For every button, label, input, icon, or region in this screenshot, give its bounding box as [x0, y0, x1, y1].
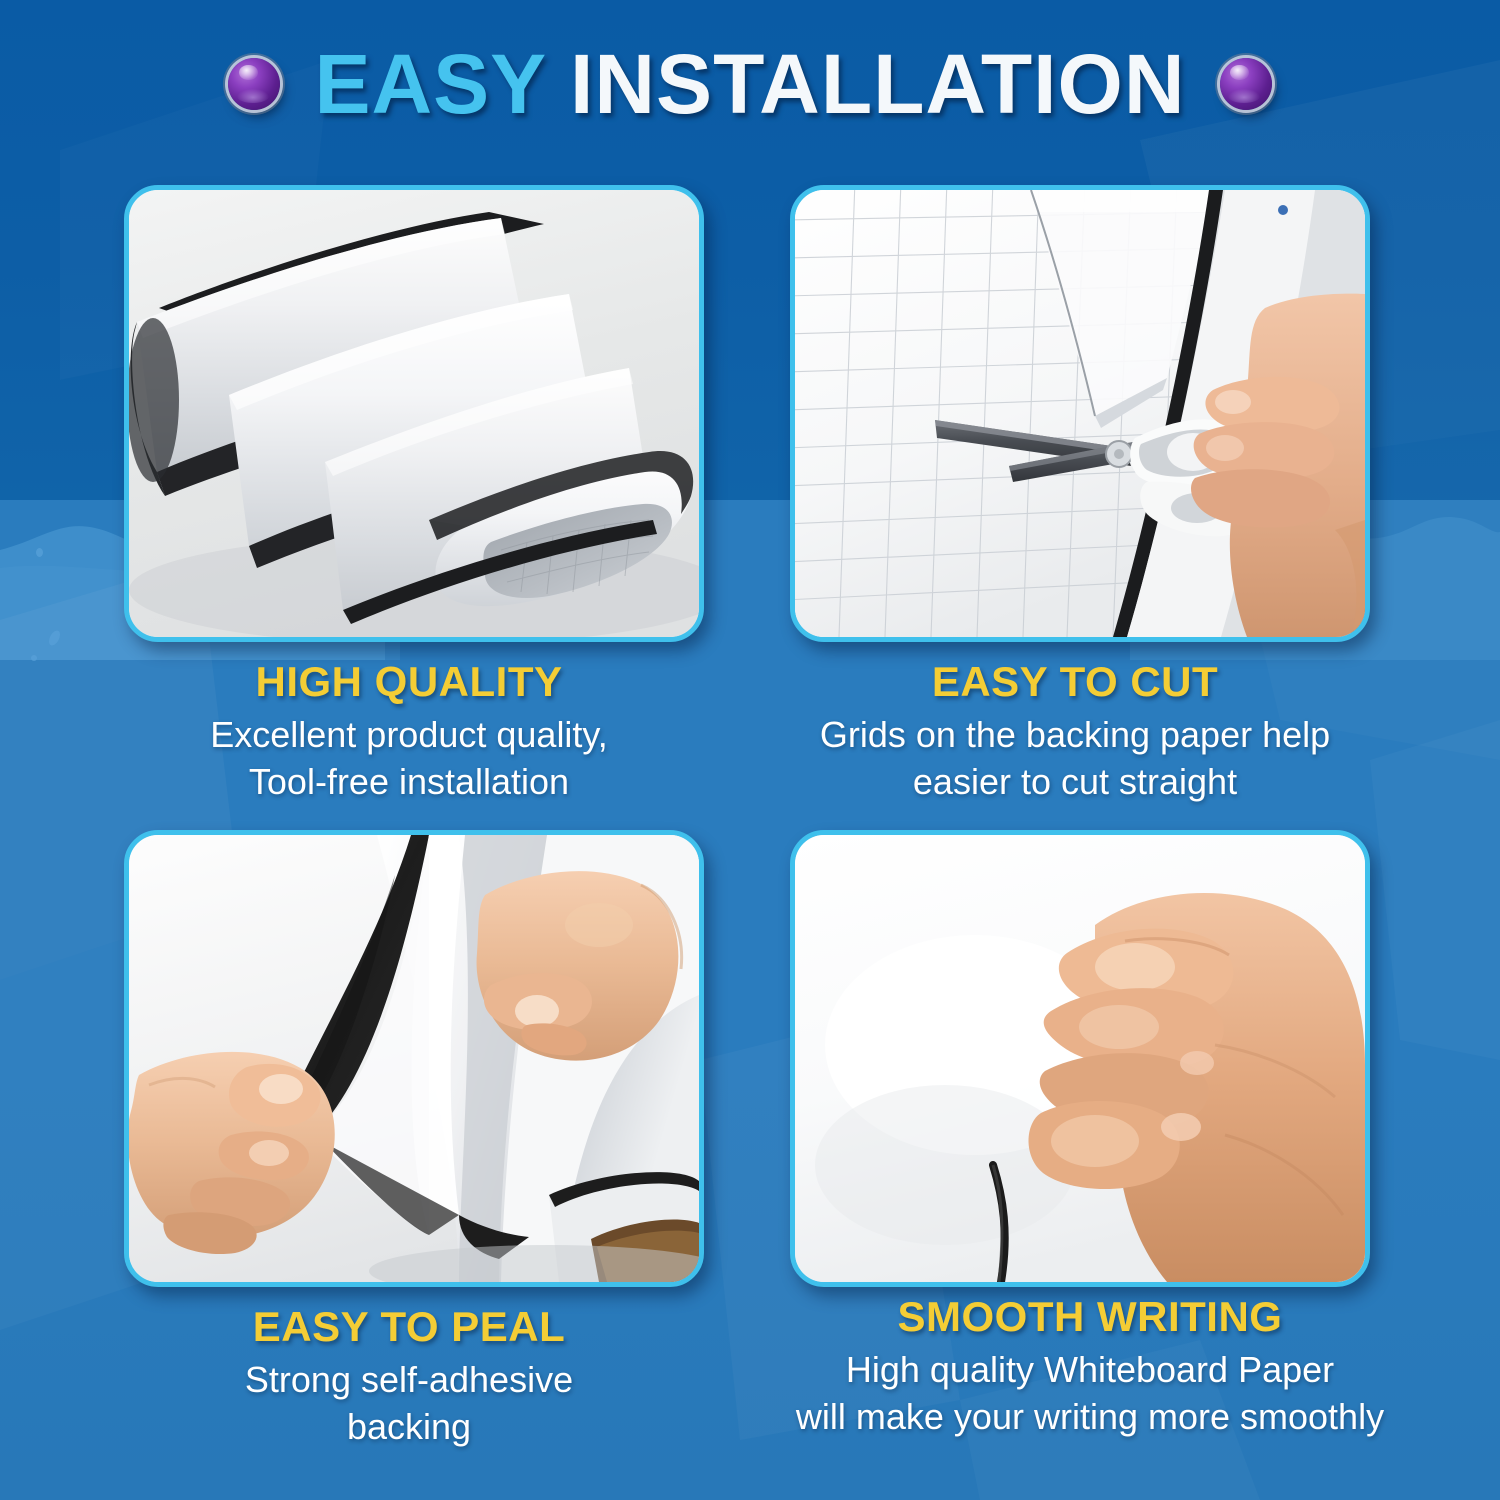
caption-body: Strong self-adhesive backing [124, 1357, 694, 1451]
hand-writing-with-marker-photo: 09 JIAWEI JW-526 No.1 [795, 835, 1365, 1282]
feature-card-smooth-writing[interactable]: 09 JIAWEI JW-526 No.1 [790, 830, 1370, 1287]
caption-title: EASY TO PEAL [124, 1305, 694, 1349]
water-droplet [36, 548, 43, 557]
caption-body: High quality Whiteboard Paper will make … [760, 1347, 1420, 1441]
page-title: EASY INSTALLATION [0, 28, 1500, 140]
purple-magnet-pin-icon-left [228, 58, 280, 110]
caption-high-quality: HIGH QUALITY Excellent product quality, … [124, 660, 694, 806]
caption-body: Excellent product quality, Tool-free ins… [124, 712, 694, 806]
rolled-whiteboard-sheet-photo [129, 190, 699, 637]
caption-smooth-writing: SMOOTH WRITING High quality Whiteboard P… [760, 1295, 1420, 1441]
feature-card-easy-to-cut[interactable] [790, 185, 1370, 642]
hands-peeling-adhesive-backing-photo [129, 835, 699, 1282]
caption-easy-to-cut: EASY TO CUT Grids on the backing paper h… [770, 660, 1380, 806]
purple-magnet-pin-icon-right [1220, 58, 1272, 110]
scissors-cutting-grid-backing-photo [795, 190, 1365, 637]
infographic-page: EASY INSTALLATION [0, 0, 1500, 1500]
water-droplet [31, 655, 37, 661]
feature-card-high-quality[interactable] [124, 185, 704, 642]
title-accent-word: EASY [314, 37, 545, 131]
caption-title: HIGH QUALITY [124, 660, 694, 704]
title-main-word: INSTALLATION [570, 37, 1185, 131]
caption-body: Grids on the backing paper help easier t… [770, 712, 1380, 806]
feature-card-easy-to-peal[interactable] [124, 830, 704, 1287]
caption-easy-to-peal: EASY TO PEAL Strong self-adhesive backin… [124, 1305, 694, 1451]
caption-title: EASY TO CUT [770, 660, 1380, 704]
caption-title: SMOOTH WRITING [760, 1295, 1420, 1339]
